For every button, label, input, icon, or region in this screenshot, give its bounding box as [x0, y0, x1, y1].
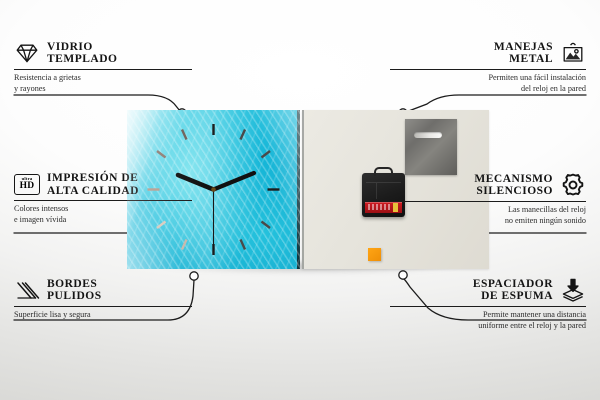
callout-title: ESPACIADOR DE ESPUMA: [473, 278, 553, 303]
callout-divider: [14, 306, 192, 307]
clock-dial: [127, 110, 300, 269]
callout-title-line2: ALTA CALIDAD: [47, 185, 139, 198]
callout-title: VIDRIO TEMPLADO: [47, 41, 117, 66]
callout-subtitle-line1: Permite mantener una distancia: [390, 310, 586, 321]
foam-spacer: [368, 248, 381, 261]
callout-foam-spacer: ESPACIADOR DE ESPUMA Permite mantener un…: [390, 277, 586, 331]
callout-subtitle: Las manecillas del reloj no emiten ningú…: [390, 205, 586, 226]
connector-glass: [14, 95, 180, 111]
callout-metal-hangers: MANEJAS METAL Permiten una fácil instala…: [390, 40, 586, 94]
callout-title-line1: BORDES: [47, 278, 97, 290]
callout-divider: [390, 69, 586, 70]
callout-subtitle: Permiten una fácil instalación del reloj…: [390, 73, 586, 94]
callout-title-line1: MANEJAS: [494, 41, 553, 53]
callout-subtitle: Resistencia a grietas y rayones: [14, 73, 192, 94]
callout-header: BORDES PULIDOS: [14, 277, 192, 303]
callout-title: IMPRESIÓN DE ALTA CALIDAD: [47, 172, 139, 197]
callout-subtitle-line1: Las manecillas del reloj: [390, 205, 586, 216]
callout-title-line1: VIDRIO: [47, 41, 93, 53]
callout-polished-edges: BORDES PULIDOS Superficie lisa y segura: [14, 277, 192, 321]
callout-title-line1: IMPRESIÓN DE: [47, 172, 138, 184]
callout-subtitle-line1: Resistencia a grietas: [14, 73, 192, 84]
diamond-icon: [14, 40, 40, 66]
polished-edges-icon: [14, 277, 40, 303]
picture-hanger-icon: [560, 40, 586, 66]
callout-subtitle-line2: y rayones: [14, 84, 192, 95]
infographic-stage: VIDRIO TEMPLADO Resistencia a grietas y …: [0, 0, 600, 400]
callout-title-line2: DE ESPUMA: [473, 290, 553, 303]
mechanism-seam-vertical: [376, 183, 377, 199]
callout-title: MECANISMO SILENCIOSO: [474, 173, 553, 198]
callout-divider: [390, 201, 586, 202]
callout-subtitle: Permite mantener una distancia uniforme …: [390, 310, 586, 331]
ultra-hd-icon-main-text: HD: [20, 182, 35, 192]
hands-hub: [211, 187, 216, 192]
callout-title-line2: TEMPLADO: [47, 53, 117, 66]
hour-hand: [178, 175, 214, 190]
battery-label: [368, 204, 391, 210]
gear-icon: [560, 172, 586, 198]
callout-subtitle: Superficie lisa y segura: [14, 310, 192, 321]
callout-subtitle-line2: del reloj en la pared: [390, 84, 586, 95]
callout-silent-mechanism: MECANISMO SILENCIOSO Las manecillas del …: [390, 172, 586, 226]
callout-header: MANEJAS METAL: [390, 40, 586, 66]
callout-title-line2: PULIDOS: [47, 290, 102, 303]
callout-subtitle-line1: Superficie lisa y segura: [14, 310, 192, 321]
callout-subtitle-line1: Permiten una fácil instalación: [390, 73, 586, 84]
callout-subtitle-line2: uniforme entre el reloj y la pared: [390, 321, 586, 332]
callout-divider: [390, 306, 586, 307]
metal-hanger-plate: [405, 119, 457, 175]
callout-header: VIDRIO TEMPLADO: [14, 40, 192, 66]
callout-header: ESPACIADOR DE ESPUMA: [390, 277, 586, 303]
ultra-hd-icon: ultra HD: [14, 174, 40, 195]
minute-hand: [214, 173, 255, 190]
callout-header: MECANISMO SILENCIOSO: [390, 172, 586, 198]
callout-title: MANEJAS METAL: [494, 41, 553, 66]
foam-spacer-icon: [560, 277, 586, 303]
callout-title-line1: ESPACIADOR: [473, 278, 553, 290]
callout-title-line1: MECANISMO: [474, 173, 553, 185]
callout-divider: [14, 69, 192, 70]
callout-tempered-glass: VIDRIO TEMPLADO Resistencia a grietas y …: [14, 40, 192, 94]
hanger-keyhole-slot: [414, 132, 442, 138]
callout-title-line2: SILENCIOSO: [474, 185, 553, 198]
callout-subtitle-line2: no emiten ningún sonido: [390, 216, 586, 227]
callout-title: BORDES PULIDOS: [47, 278, 102, 303]
callout-title-line2: METAL: [494, 53, 553, 66]
